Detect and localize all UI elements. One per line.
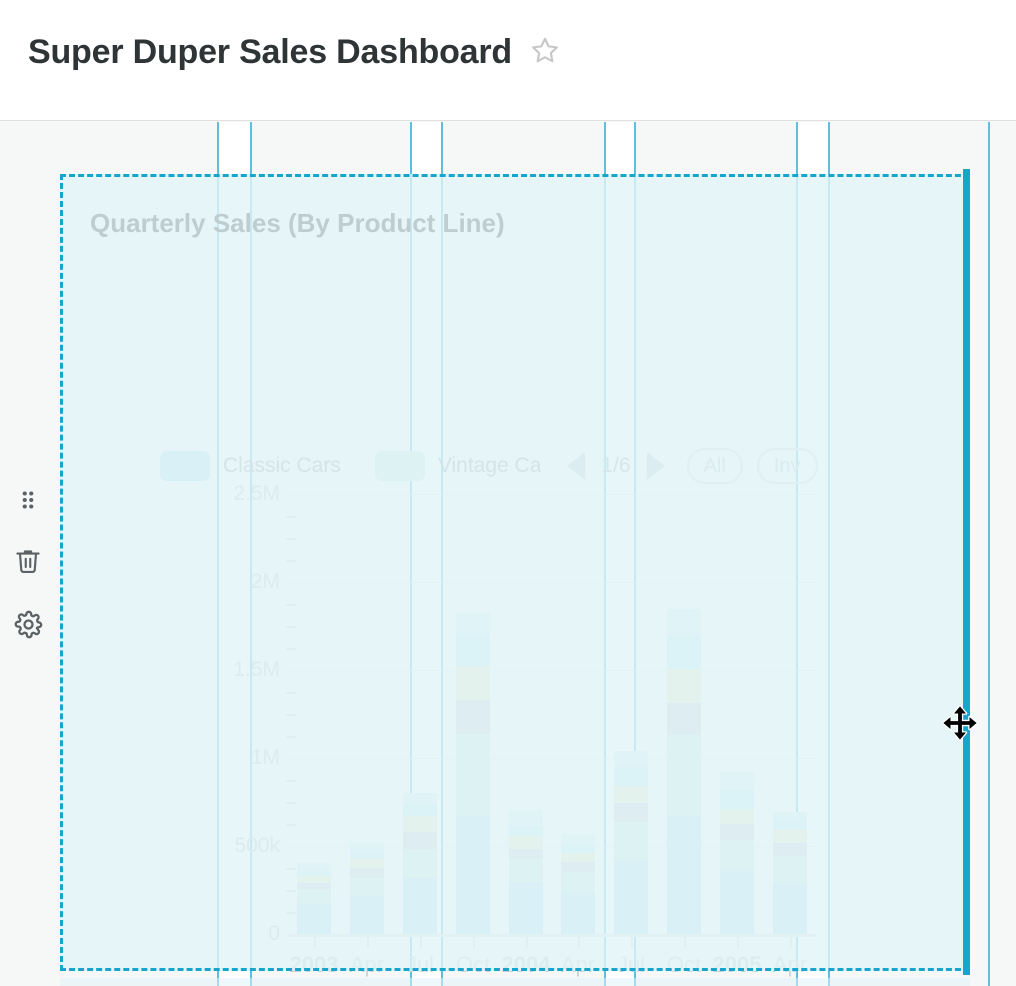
bar-segment[interactable] <box>720 790 754 809</box>
x-axis-label: Oct <box>667 952 701 978</box>
bar-segment[interactable] <box>720 840 754 870</box>
gear-icon[interactable] <box>13 609 44 645</box>
x-axis-label: Oct <box>456 952 490 978</box>
widget-resize-handle-right[interactable] <box>963 169 970 975</box>
bar-segment[interactable] <box>614 751 648 766</box>
legend-swatch-icon <box>160 451 210 481</box>
x-axis-label: Jul <box>406 952 434 978</box>
x-axis-labels: 2003AprJulOct2004AprJulOct2005Apr <box>240 952 880 982</box>
bar-segment[interactable] <box>403 793 437 803</box>
x-tick <box>526 937 528 948</box>
x-tick <box>473 937 475 948</box>
legend-invert-button[interactable]: Inv <box>757 448 818 484</box>
chart-legend: Classic Cars Vintage Ca 1/6 All Inv <box>160 448 832 484</box>
bar-segment[interactable] <box>350 849 384 858</box>
x-tick <box>578 937 580 948</box>
legend-page-count: 1/6 <box>601 454 630 478</box>
x-tick <box>367 937 369 948</box>
bar-segment[interactable] <box>297 863 331 871</box>
trash-icon[interactable] <box>13 546 43 581</box>
bar-segment[interactable] <box>614 767 648 786</box>
y-tick-label: 1M <box>251 746 280 770</box>
widget-quarterly-sales[interactable]: Quarterly Sales (By Product Line) Classi… <box>60 174 970 971</box>
y-tick-label: 1.5M <box>233 658 280 682</box>
bar-segment[interactable] <box>773 883 807 934</box>
bar-segment[interactable] <box>614 803 648 822</box>
bar-segment[interactable] <box>667 635 701 669</box>
bar-segment[interactable] <box>561 853 595 862</box>
y-axis: 0 500k 1M 1.5M 2M 2.5M <box>90 494 280 934</box>
chart-plot-area[interactable]: 0 500k 1M 1.5M 2M 2.5M <box>90 494 940 934</box>
triangle-left-icon[interactable] <box>567 452 585 480</box>
bar-stack[interactable] <box>720 772 754 934</box>
y-tick-label: 2M <box>251 570 280 594</box>
x-tick <box>790 937 792 948</box>
bar-segment[interactable] <box>667 816 701 934</box>
x-axis-ticks <box>288 937 816 951</box>
drag-handle-dots-icon[interactable] <box>15 487 41 518</box>
bar-segment[interactable] <box>509 810 543 826</box>
legend-item-vintage-cars[interactable]: Vintage Ca <box>375 451 542 481</box>
bar-stack[interactable] <box>561 834 595 934</box>
bar-segment[interactable] <box>614 786 648 803</box>
x-axis-label: Apr <box>773 952 807 978</box>
x-tick <box>684 937 686 948</box>
bar-segment[interactable] <box>773 830 807 843</box>
x-axis-label: Apr <box>350 952 384 978</box>
x-axis-label: 2004 <box>502 952 551 978</box>
x-tick <box>631 937 633 948</box>
title-row: Super Duper Sales Dashboard <box>28 33 560 72</box>
bar-segment[interactable] <box>561 844 595 852</box>
app-header: Super Duper Sales Dashboard <box>0 0 1016 121</box>
y-tick-label: 500k <box>234 834 280 858</box>
bar-segment[interactable] <box>456 613 490 632</box>
x-axis-label: 2005 <box>713 952 762 978</box>
chart-title: Quarterly Sales (By Product Line) <box>90 206 942 240</box>
bar-stack[interactable] <box>614 751 648 934</box>
bar-segment[interactable] <box>297 904 331 934</box>
x-axis-label: Apr <box>561 952 595 978</box>
y-tick-label: 2.5M <box>233 482 280 506</box>
bar-segment[interactable] <box>773 856 807 883</box>
y-tick-label: 0 <box>268 922 280 946</box>
bar-segment[interactable] <box>456 816 490 934</box>
bar-segment[interactable] <box>614 860 648 934</box>
bar-segment[interactable] <box>350 877 384 896</box>
x-axis-label: 2003 <box>290 952 339 978</box>
x-tick <box>420 937 422 948</box>
bar-segment[interactable] <box>350 858 384 868</box>
bar-segment[interactable] <box>561 893 595 934</box>
legend-item-classic-cars[interactable]: Classic Cars <box>160 451 341 481</box>
bar-segment[interactable] <box>720 871 754 934</box>
star-outline-icon[interactable] <box>530 35 560 70</box>
bar-segment[interactable] <box>509 826 543 836</box>
bar-series-container <box>288 494 816 934</box>
move-cursor-icon <box>941 704 979 747</box>
x-axis-label: Jul <box>617 952 645 978</box>
bar-segment[interactable] <box>667 609 701 635</box>
bar-segment[interactable] <box>773 817 807 830</box>
x-tick <box>314 937 316 948</box>
bar-stack[interactable] <box>509 810 543 934</box>
bar-stack[interactable] <box>350 842 384 934</box>
bar-segment[interactable] <box>509 882 543 934</box>
grid-line <box>988 122 990 986</box>
bar-segment[interactable] <box>561 834 595 844</box>
bar-segment[interactable] <box>297 889 331 904</box>
bar-segment[interactable] <box>667 669 701 703</box>
bar-segment[interactable] <box>509 836 543 849</box>
bar-stack[interactable] <box>667 609 701 934</box>
bar-segment[interactable] <box>720 772 754 791</box>
bar-segment[interactable] <box>403 878 437 934</box>
bar-segment[interactable] <box>773 843 807 857</box>
bar-segment[interactable] <box>297 876 331 883</box>
bar-stack[interactable] <box>456 613 490 934</box>
bar-segment[interactable] <box>456 666 490 701</box>
bar-segment[interactable] <box>561 862 595 872</box>
bar-segment[interactable] <box>456 733 490 816</box>
widget-toolbar <box>8 487 48 645</box>
bar-segment[interactable] <box>403 849 437 879</box>
legend-swatch-icon <box>375 451 425 481</box>
bar-segment[interactable] <box>720 809 754 824</box>
bar-segment[interactable] <box>667 703 701 735</box>
bar-stack[interactable] <box>403 793 437 934</box>
bar-segment[interactable] <box>456 633 490 666</box>
legend-label: Classic Cars <box>223 454 341 478</box>
triangle-right-icon[interactable] <box>647 452 665 480</box>
bar-segment[interactable] <box>350 896 384 934</box>
bar-segment[interactable] <box>456 700 490 732</box>
dashboard-canvas[interactable]: Quarterly Sales (By Product Line) Classi… <box>0 122 1016 986</box>
bar-segment[interactable] <box>403 803 437 816</box>
page-title: Super Duper Sales Dashboard <box>28 33 512 72</box>
bar-segment[interactable] <box>509 859 543 882</box>
legend-select-all-button[interactable]: All <box>687 448 743 484</box>
x-tick <box>737 937 739 948</box>
legend-label: Vintage Ca <box>438 454 542 478</box>
bar-segment[interactable] <box>561 872 595 892</box>
bar-segment[interactable] <box>350 868 384 877</box>
bar-segment[interactable] <box>720 824 754 840</box>
bar-segment[interactable] <box>667 735 701 815</box>
bar-stack[interactable] <box>297 863 331 934</box>
bar-segment[interactable] <box>614 821 648 859</box>
bar-segment[interactable] <box>403 832 437 848</box>
bar-segment[interactable] <box>509 849 543 859</box>
bar-segment[interactable] <box>350 842 384 849</box>
bar-segment[interactable] <box>403 816 437 833</box>
bar-stack[interactable] <box>773 812 807 934</box>
legend-pager: 1/6 <box>567 452 664 480</box>
